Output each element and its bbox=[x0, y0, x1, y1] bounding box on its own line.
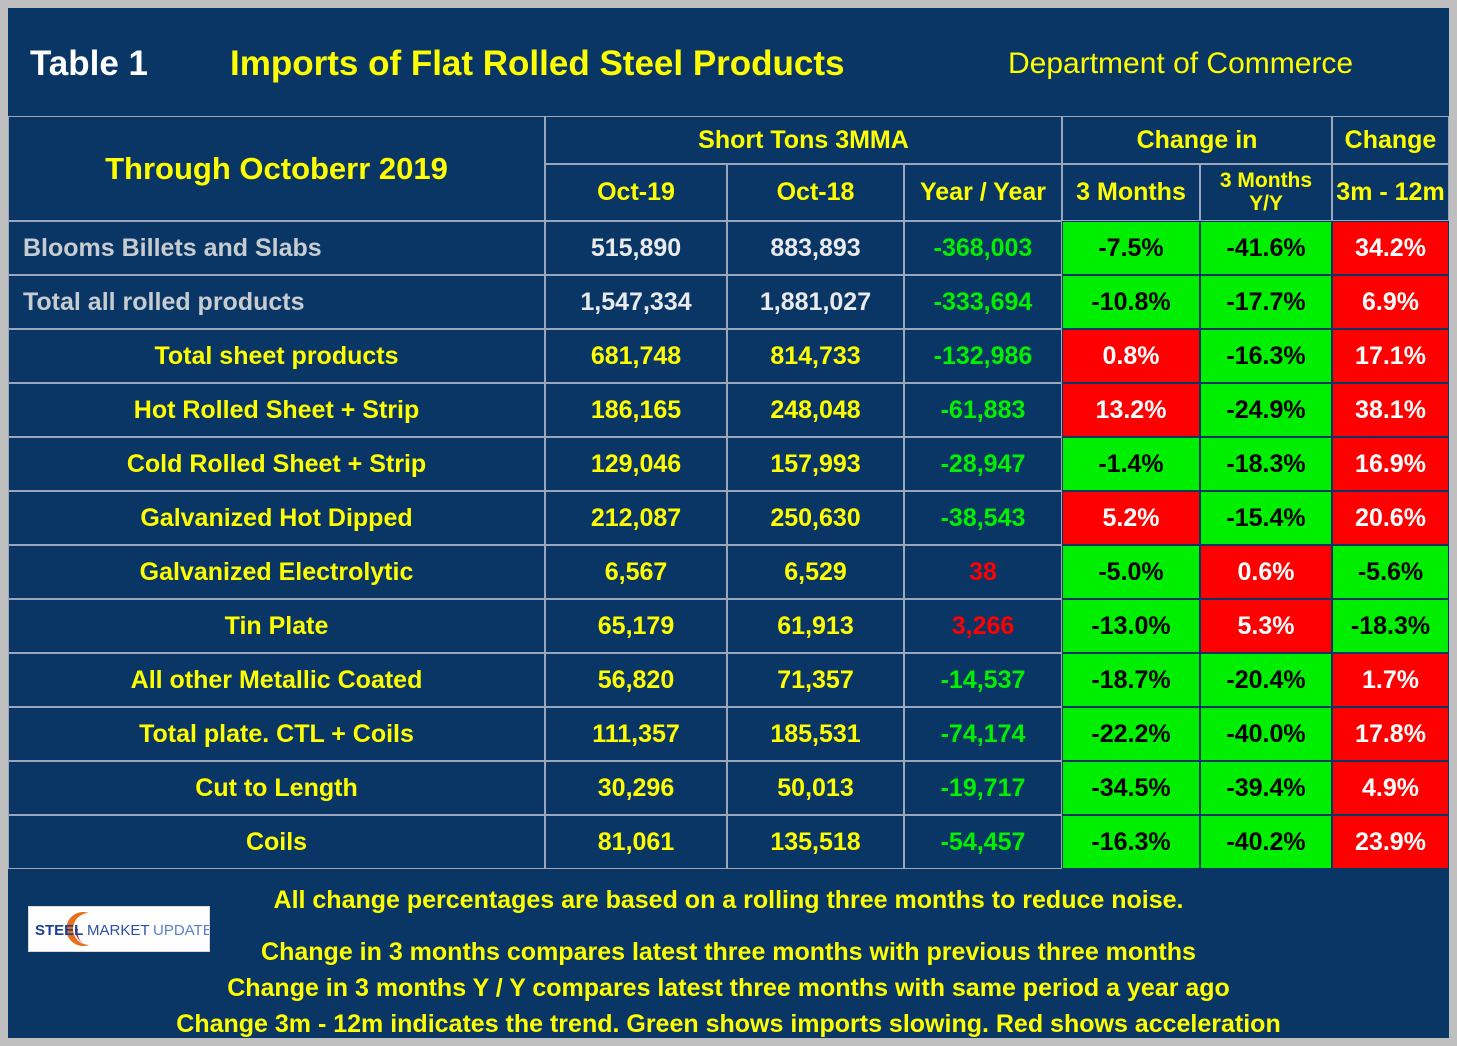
table-row[interactable]: Cold Rolled Sheet + Strip129,046157,993-… bbox=[8, 437, 1449, 491]
cell-oct19: 186,165 bbox=[545, 383, 727, 437]
cell-change-3-months-yy: -40.0% bbox=[1200, 707, 1332, 761]
cell-change-3m-12m: 17.1% bbox=[1332, 329, 1449, 383]
cell-oct18: 6,529 bbox=[727, 545, 904, 599]
cell-change-3-months: -10.8% bbox=[1062, 275, 1200, 329]
table-row[interactable]: Hot Rolled Sheet + Strip186,165248,048-6… bbox=[8, 383, 1449, 437]
cell-change-3-months: 5.2% bbox=[1062, 491, 1200, 545]
cell-change-3m-12m: -18.3% bbox=[1332, 599, 1449, 653]
cell-year-year: 38 bbox=[904, 545, 1062, 599]
cell-oct18: 71,357 bbox=[727, 653, 904, 707]
cell-change-3m-12m: 4.9% bbox=[1332, 761, 1449, 815]
cell-oct19: 212,087 bbox=[545, 491, 727, 545]
row-label: Galvanized Electrolytic bbox=[8, 545, 545, 599]
cell-oct19: 129,046 bbox=[545, 437, 727, 491]
cell-change-3-months: -5.0% bbox=[1062, 545, 1200, 599]
cell-year-year: -333,694 bbox=[904, 275, 1062, 329]
cell-change-3-months: -16.3% bbox=[1062, 815, 1200, 869]
cell-oct19: 681,748 bbox=[545, 329, 727, 383]
table-row[interactable]: Galvanized Electrolytic6,5676,52938-5.0%… bbox=[8, 545, 1449, 599]
cell-oct18: 883,893 bbox=[727, 221, 904, 275]
cell-change-3-months-yy: -39.4% bbox=[1200, 761, 1332, 815]
cell-change-3-months-yy: 5.3% bbox=[1200, 599, 1332, 653]
cell-change-3-months: -18.7% bbox=[1062, 653, 1200, 707]
cell-change-3m-12m: 23.9% bbox=[1332, 815, 1449, 869]
cell-oct18: 1,881,027 bbox=[727, 275, 904, 329]
col-header-oct18: Oct-18 bbox=[727, 164, 904, 221]
cell-oct19: 56,820 bbox=[545, 653, 727, 707]
cell-year-year: -28,947 bbox=[904, 437, 1062, 491]
cell-year-year: -368,003 bbox=[904, 221, 1062, 275]
cell-year-year: -14,537 bbox=[904, 653, 1062, 707]
row-label: Galvanized Hot Dipped bbox=[8, 491, 545, 545]
table-row[interactable]: Total sheet products681,748814,733-132,9… bbox=[8, 329, 1449, 383]
cell-change-3-months: 13.2% bbox=[1062, 383, 1200, 437]
cell-change-3-months-yy: -24.9% bbox=[1200, 383, 1332, 437]
table-row[interactable]: Tin Plate65,17961,9133,266-13.0%5.3%-18.… bbox=[8, 599, 1449, 653]
cell-change-3-months-yy: -41.6% bbox=[1200, 221, 1332, 275]
cell-change-3m-12m: -5.6% bbox=[1332, 545, 1449, 599]
svg-text:MARKET: MARKET bbox=[87, 922, 150, 939]
footer-note-2: Change in 3 months compares latest three… bbox=[8, 938, 1449, 967]
cell-oct19: 111,357 bbox=[545, 707, 727, 761]
cell-change-3m-12m: 17.8% bbox=[1332, 707, 1449, 761]
row-label: Total sheet products bbox=[8, 329, 545, 383]
row-label: Total plate. CTL + Coils bbox=[8, 707, 545, 761]
svg-text:UPDATE: UPDATE bbox=[153, 922, 209, 939]
cell-oct18: 157,993 bbox=[727, 437, 904, 491]
cell-change-3-months-yy: -20.4% bbox=[1200, 653, 1332, 707]
table-row[interactable]: All other Metallic Coated56,82071,357-14… bbox=[8, 653, 1449, 707]
table-row[interactable]: Total all rolled products1,547,3341,881,… bbox=[8, 275, 1449, 329]
row-label: Tin Plate bbox=[8, 599, 545, 653]
cell-change-3m-12m: 16.9% bbox=[1332, 437, 1449, 491]
col-header-3-months-yy: 3 Months Y/Y bbox=[1200, 164, 1332, 221]
footer-note-3: Change in 3 months Y / Y compares latest… bbox=[8, 974, 1449, 1003]
group-header-change-in: Change in bbox=[1062, 116, 1332, 164]
cell-oct18: 250,630 bbox=[727, 491, 904, 545]
cell-oct18: 814,733 bbox=[727, 329, 904, 383]
cell-oct18: 135,518 bbox=[727, 815, 904, 869]
corner-period-text: Through Octoberr 2019 bbox=[105, 151, 448, 187]
cell-year-year: -19,717 bbox=[904, 761, 1062, 815]
cell-oct19: 1,547,334 bbox=[545, 275, 727, 329]
row-label: Total all rolled products bbox=[8, 275, 545, 329]
cell-oct18: 50,013 bbox=[727, 761, 904, 815]
cell-change-3-months: -22.2% bbox=[1062, 707, 1200, 761]
cell-oct19: 30,296 bbox=[545, 761, 727, 815]
col-header-3m-12m: 3m - 12m bbox=[1332, 164, 1449, 221]
cell-change-3-months-yy: -15.4% bbox=[1200, 491, 1332, 545]
cell-oct18: 248,048 bbox=[727, 383, 904, 437]
cell-oct18: 61,913 bbox=[727, 599, 904, 653]
cell-oct19: 6,567 bbox=[545, 545, 727, 599]
col-header-year-year: Year / Year bbox=[904, 164, 1062, 221]
cell-oct18: 185,531 bbox=[727, 707, 904, 761]
group-header-change: Change bbox=[1332, 116, 1449, 164]
footer-note-1: All change percentages are based on a ro… bbox=[8, 886, 1449, 915]
col-header-oct19: Oct-19 bbox=[545, 164, 727, 221]
page-title: Imports of Flat Rolled Steel Products bbox=[230, 44, 845, 84]
cell-year-year: -38,543 bbox=[904, 491, 1062, 545]
cell-change-3-months-yy: -40.2% bbox=[1200, 815, 1332, 869]
table-row[interactable]: Galvanized Hot Dipped212,087250,630-38,5… bbox=[8, 491, 1449, 545]
cell-change-3-months: -34.5% bbox=[1062, 761, 1200, 815]
table-row[interactable]: Coils81,061135,518-54,457-16.3%-40.2%23.… bbox=[8, 815, 1449, 869]
table-row[interactable]: Blooms Billets and Slabs515,890883,893-3… bbox=[8, 221, 1449, 275]
cell-oct19: 515,890 bbox=[545, 221, 727, 275]
group-header-short-tons: Short Tons 3MMA bbox=[545, 116, 1062, 164]
cell-year-year: -61,883 bbox=[904, 383, 1062, 437]
row-label: Coils bbox=[8, 815, 545, 869]
cell-change-3-months: -13.0% bbox=[1062, 599, 1200, 653]
row-label: Blooms Billets and Slabs bbox=[8, 221, 545, 275]
title-bar: Table 1 Imports of Flat Rolled Steel Pro… bbox=[8, 8, 1449, 114]
data-table: Through Octoberr 2019 Short Tons 3MMA Ch… bbox=[8, 116, 1449, 872]
svg-text:STEEL: STEEL bbox=[35, 922, 83, 939]
cell-change-3m-12m: 38.1% bbox=[1332, 383, 1449, 437]
cell-change-3m-12m: 6.9% bbox=[1332, 275, 1449, 329]
cell-change-3m-12m: 34.2% bbox=[1332, 221, 1449, 275]
corner-period-label: Through Octoberr 2019 bbox=[8, 116, 545, 221]
cell-change-3-months-yy: -18.3% bbox=[1200, 437, 1332, 491]
cell-change-3m-12m: 20.6% bbox=[1332, 491, 1449, 545]
footer-note-4: Change 3m - 12m indicates the trend. Gre… bbox=[8, 1010, 1449, 1039]
row-label: Cold Rolled Sheet + Strip bbox=[8, 437, 545, 491]
cell-change-3-months-yy: 0.6% bbox=[1200, 545, 1332, 599]
cell-change-3m-12m: 1.7% bbox=[1332, 653, 1449, 707]
cell-change-3-months-yy: -17.7% bbox=[1200, 275, 1332, 329]
cell-year-year: -54,457 bbox=[904, 815, 1062, 869]
cell-oct19: 65,179 bbox=[545, 599, 727, 653]
table-subheader-row: Oct-19 Oct-18 Year / Year 3 Months 3 Mon… bbox=[545, 164, 1449, 221]
col-header-3-months: 3 Months bbox=[1062, 164, 1200, 221]
table-row[interactable]: Total plate. CTL + Coils111,357185,531-7… bbox=[8, 707, 1449, 761]
cell-year-year: 3,266 bbox=[904, 599, 1062, 653]
cell-change-3-months: -1.4% bbox=[1062, 437, 1200, 491]
cell-change-3-months-yy: -16.3% bbox=[1200, 329, 1332, 383]
source-label: Department of Commerce bbox=[1008, 47, 1353, 81]
table-row[interactable]: Cut to Length30,29650,013-19,717-34.5%-3… bbox=[8, 761, 1449, 815]
footer-notes: STEEL MARKET UPDATE All change percentag… bbox=[8, 872, 1449, 1038]
cell-change-3-months: 0.8% bbox=[1062, 329, 1200, 383]
row-label: All other Metallic Coated bbox=[8, 653, 545, 707]
cell-year-year: -132,986 bbox=[904, 329, 1062, 383]
table-number-label: Table 1 bbox=[30, 44, 148, 84]
row-label: Cut to Length bbox=[8, 761, 545, 815]
cell-year-year: -74,174 bbox=[904, 707, 1062, 761]
row-label: Hot Rolled Sheet + Strip bbox=[8, 383, 545, 437]
cell-oct19: 81,061 bbox=[545, 815, 727, 869]
cell-change-3-months: -7.5% bbox=[1062, 221, 1200, 275]
slide-canvas: Table 1 Imports of Flat Rolled Steel Pro… bbox=[8, 8, 1449, 1038]
